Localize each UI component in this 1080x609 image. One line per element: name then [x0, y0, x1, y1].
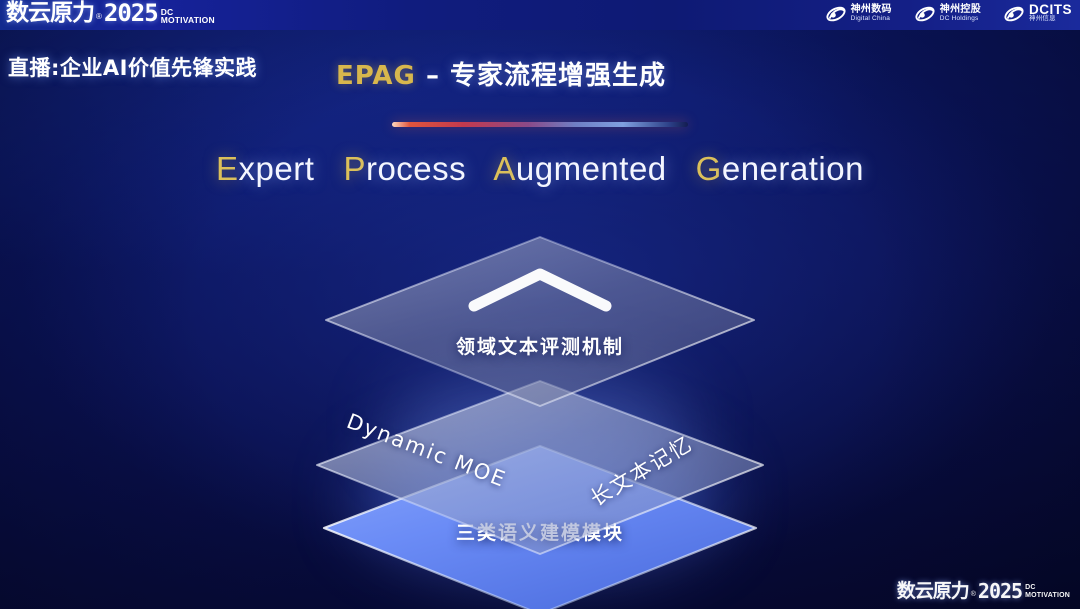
gradient-divider — [392, 122, 688, 127]
subtitle-expansion: Expert Process Augmented Generation — [0, 150, 1080, 188]
top-banner-bar: 数云原力 ® 2025 DC MOTIVATION 神州数码 — [0, 0, 1080, 30]
partner-name-cn: 神州数码 — [851, 5, 892, 15]
brand-dc-motivation: DC MOTIVATION — [161, 8, 215, 24]
subtitle-space-2 — [476, 150, 486, 187]
subtitle-cap-e: E — [216, 150, 239, 187]
subtitle-rest-augmented: ugmented — [516, 150, 667, 187]
swirl-logo-icon — [914, 3, 936, 25]
watermark-year: 2025 — [978, 582, 1022, 601]
footer-watermark-logo: 数云原力 ® 2025 DC MOTIVATION — [897, 582, 1070, 601]
subtitle-space-3 — [676, 150, 686, 187]
partner-name-en: Digital China — [851, 14, 892, 24]
watermark-dc-motivation: DC MOTIVATION — [1025, 584, 1070, 600]
subtitle-cap-g: G — [696, 150, 722, 187]
watermark-registered-mark: ® — [971, 588, 976, 601]
partner-logo-digital-china: 神州数码 Digital China — [825, 3, 892, 25]
chevron-up-icon — [460, 262, 620, 314]
subtitle-rest-generation: eneration — [722, 150, 864, 187]
presentation-slide: 数云原力 ® 2025 DC MOTIVATION 神州数码 — [0, 0, 1080, 609]
partner-name-cn: 神州控股 — [940, 5, 981, 15]
subtitle-space-1 — [324, 150, 334, 187]
title-separator: – — [416, 61, 450, 91]
title-acronym: EPAG — [336, 61, 416, 91]
page-title: EPAG – 专家流程增强生成 — [336, 55, 666, 92]
brand-year: 2025 — [104, 2, 158, 25]
live-stream-title: 直播:企业AI价值先锋实践 — [8, 52, 257, 82]
brand-name-cn: 数云原力 — [6, 2, 94, 25]
watermark-name-cn: 数云原力 — [897, 582, 969, 601]
partner-name-en: 神州信息 — [1029, 14, 1072, 24]
partner-text: 神州控股 DC Holdings — [940, 5, 981, 24]
layer-top[interactable]: 领域文本评测机制 — [318, 232, 762, 412]
partner-text: 神州数码 Digital China — [851, 5, 892, 24]
partner-name-cn: DCITS — [1029, 5, 1072, 15]
swirl-logo-icon — [825, 3, 847, 25]
swirl-logo-icon — [1003, 3, 1025, 25]
watermark-dc-line2: MOTIVATION — [1025, 592, 1070, 600]
title-chinese: 专家流程增强生成 — [450, 61, 666, 91]
partner-name-en: DC Holdings — [940, 14, 981, 24]
subtitle-word-expert: Expert — [216, 150, 314, 187]
subtitle-cap-a: A — [493, 150, 516, 187]
watermark-dc-line1: DC — [1025, 584, 1070, 592]
brand-dc-line2: MOTIVATION — [161, 16, 215, 24]
registered-mark: ® — [96, 9, 102, 25]
partner-logo-dc-holdings: 神州控股 DC Holdings — [914, 3, 981, 25]
subtitle-rest-process: rocess — [366, 150, 466, 187]
subtitle-rest-expert: xpert — [239, 150, 315, 187]
brand-logo: 数云原力 ® 2025 DC MOTIVATION — [6, 2, 215, 25]
subtitle-word-process: Process — [343, 150, 466, 187]
subtitle-cap-p: P — [343, 150, 366, 187]
partner-logo-dcits: DCITS 神州信息 — [1003, 3, 1072, 25]
partner-text: DCITS 神州信息 — [1029, 5, 1072, 24]
subtitle-word-augmented: Augmented — [493, 150, 666, 187]
subtitle-word-generation: Generation — [696, 150, 864, 187]
partner-logos: 神州数码 Digital China 神州控股 DC Holdings — [825, 3, 1072, 25]
